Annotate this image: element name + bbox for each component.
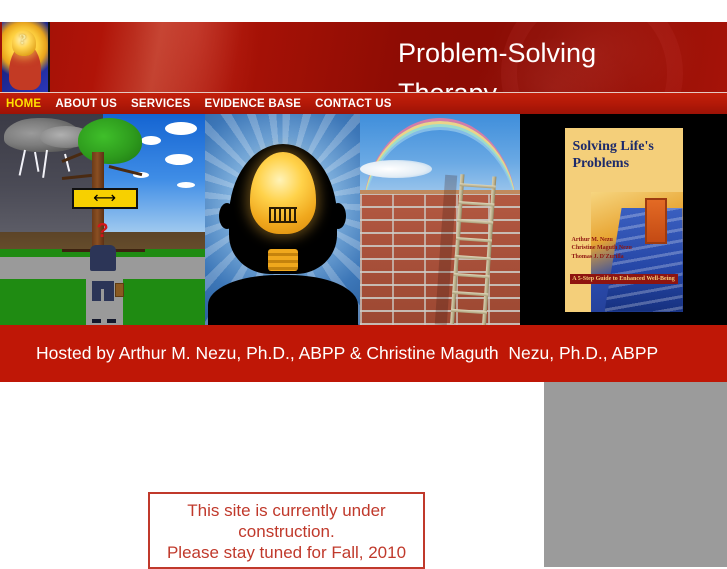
book-cover-image: Solving Life's Problems Arthur M. Nezu C… (520, 114, 727, 325)
white-cloud-icon (141, 136, 161, 145)
book-cover: Solving Life's Problems Arthur M. Nezu C… (565, 128, 683, 312)
page-title: Problem-Solving Therapy (398, 33, 727, 92)
book-subtitle: A 5-Step Guide to Enhanced Well-Being (570, 274, 678, 284)
head-lightbulb-icon: ? (2, 22, 48, 92)
wall-cap (360, 190, 520, 194)
main-navigation: HOME ABOUT US SERVICES EVIDENCE BASE CON… (0, 92, 727, 114)
white-cloud-icon (165, 154, 193, 165)
ladder-rung (450, 309, 486, 315)
shoulders-silhouette (208, 275, 358, 325)
ladder-rung (453, 273, 489, 279)
two-way-arrow-sign: ⟷ (72, 188, 138, 209)
ladder-rung (459, 183, 495, 189)
book-door-art (645, 198, 667, 244)
crossroads-decision-image: ⟷ ? (0, 114, 205, 325)
site-logo[interactable]: ? (2, 22, 50, 92)
under-construction-text: This site is currently under constructio… (154, 500, 419, 563)
nav-item-home[interactable]: HOME (6, 98, 41, 110)
tree-canopy (78, 118, 142, 164)
question-mark-symbol: ? (96, 220, 108, 243)
logo-question-mark: ? (19, 32, 27, 49)
under-construction-notice: This site is currently under constructio… (148, 492, 425, 569)
ladder-rung (455, 237, 491, 243)
hosted-by-bar: Hosted by Arthur M. Nezu, Ph.D., ABPP & … (0, 325, 727, 382)
ladder-rung (458, 201, 494, 207)
bulb-screw-base (268, 249, 298, 271)
bulb-filament (269, 207, 297, 223)
person-torso (90, 245, 116, 271)
top-white-strip (0, 0, 727, 22)
nav-item-services[interactable]: SERVICES (131, 98, 191, 110)
nav-item-evidence-base[interactable]: EVIDENCE BASE (205, 98, 302, 110)
book-title: Solving Life's Problems (573, 138, 677, 172)
ladder-brick-wall-rainbow-image (360, 114, 520, 325)
lightbulb-head-image (205, 114, 360, 325)
site-banner: ? Problem-Solving Therapy (0, 22, 727, 92)
book-authors: Arthur M. Nezu Christine Maguth Nezu Tho… (572, 236, 632, 262)
person-leg-gap (101, 289, 104, 305)
hosted-by-text: Hosted by Arthur M. Nezu, Ph.D., ABPP & … (36, 343, 658, 364)
banner-image-strip: ⟷ ? (0, 114, 727, 325)
ladder-rung (454, 255, 490, 261)
white-cloud-icon (165, 122, 197, 135)
nav-item-contact-us[interactable]: CONTACT US (315, 98, 392, 110)
double-arrow-icon: ⟷ (93, 191, 116, 205)
briefcase-icon (115, 283, 124, 297)
white-cloud-icon (177, 182, 195, 188)
right-gray-panel (544, 382, 727, 567)
person-shoe (92, 319, 101, 323)
nav-item-about-us[interactable]: ABOUT US (55, 98, 117, 110)
page-content: This site is currently under constructio… (0, 382, 727, 567)
ladder-rung (457, 219, 493, 225)
person-shoe (107, 319, 116, 323)
ladder-rung (452, 291, 488, 297)
